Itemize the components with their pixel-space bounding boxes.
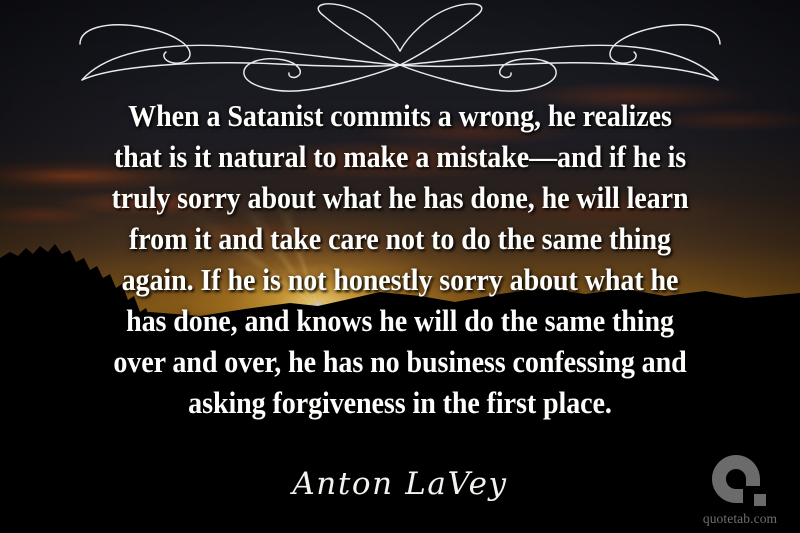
quote-line: has done, and knows he will do the same … xyxy=(69,301,731,342)
quotetab-q-logo-icon xyxy=(710,453,770,511)
quote-line: over and over, he has no business confes… xyxy=(69,342,731,383)
quote-author: Anton LaVey xyxy=(0,466,800,502)
quote-line: that is it natural to make a mistake—and… xyxy=(69,137,731,178)
quote-line: again. If he is not honestly sorry about… xyxy=(69,260,731,301)
quote-image-card: When a Satanist commits a wrong, he real… xyxy=(0,0,800,533)
quote-line: When a Satanist commits a wrong, he real… xyxy=(69,96,731,137)
quote-line: from it and take care not to do the same… xyxy=(69,219,731,260)
watermark-site-label: quotetab.com xyxy=(703,512,777,526)
decorative-flourish-ornament xyxy=(78,2,722,94)
watermark[interactable]: quotetab.com xyxy=(692,453,788,526)
quote-line: asking forgiveness in the first place. xyxy=(69,383,731,424)
quote-text-block: When a Satanist commits a wrong, he real… xyxy=(40,96,760,424)
quote-line: truly sorry about what he has done, he w… xyxy=(69,178,731,219)
